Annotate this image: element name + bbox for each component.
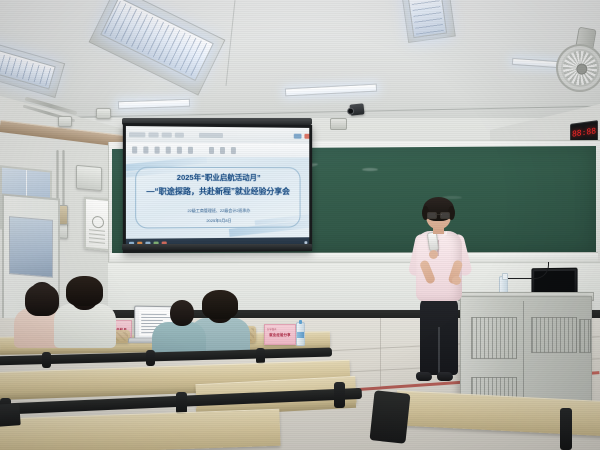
- audience-hair: [202, 290, 238, 319]
- desk-leg: [146, 350, 155, 366]
- desk-rail: [369, 390, 410, 443]
- screen-bottom-bar: [122, 244, 312, 250]
- audience-hair: [66, 276, 103, 306]
- electrical-box: [76, 165, 102, 191]
- audience-member: [54, 276, 116, 346]
- audience-head: [170, 300, 194, 326]
- wall-speaker: [330, 118, 347, 130]
- ceiling: [0, 0, 600, 128]
- slide-subtitle-date: 2025年5月8日: [206, 217, 231, 223]
- podium-cable: [508, 262, 549, 279]
- desk-leg: [256, 348, 265, 364]
- presenter-hand-left: [429, 250, 438, 259]
- desk-leg: [560, 408, 572, 450]
- water-bottle: [296, 322, 305, 346]
- ceiling-speaker: [58, 116, 72, 127]
- desk-leg: [334, 382, 345, 408]
- podium: [460, 296, 592, 406]
- ceiling-tube-light: [285, 84, 377, 97]
- audience-member: [152, 300, 206, 352]
- classroom-photo: 88:88: [0, 0, 600, 450]
- presenter-hand-right: [452, 276, 461, 285]
- projection-screen[interactable]: 2025年“职业启航活动月” —“职途探路，共赴新程”就业经验分享会 22级工商…: [123, 123, 312, 253]
- slide-title-line2: —“职途探路，共赴新程”就业经验分享会: [146, 185, 289, 196]
- desk-sign: 分享嘉宾 就业经验分享: [264, 324, 296, 345]
- projected-desktop: 2025年“职业启航活动月” —“职途探路，共赴新程”就业经验分享会 22级工商…: [126, 126, 309, 250]
- presenter: [404, 200, 474, 392]
- led-clock-digits: 88:88: [572, 127, 596, 138]
- slide-text-frame: 2025年“职业启航活动月” —“职途探路，共赴新程”就业经验分享会 22级工商…: [135, 167, 300, 229]
- glasses-icon: [427, 212, 450, 217]
- desk-sign-header: 分享嘉宾: [267, 327, 277, 331]
- presenter-pants: [420, 297, 458, 375]
- ceiling-fan-icon: [551, 39, 600, 97]
- audience-shirt: [54, 304, 116, 348]
- slide-subtitle-organizers: 22级工商管理班、22级会计2班承办: [187, 207, 250, 213]
- desk-sign-label: 就业经验分享: [269, 332, 291, 337]
- ceiling-tube-light: [118, 99, 190, 110]
- ceiling-light: [407, 0, 447, 38]
- slide-canvas: 2025年“职业启航活动月” —“职途探路，共赴新程”就业经验分享会 22级工商…: [126, 157, 309, 239]
- desk-leg: [176, 392, 187, 414]
- slide-title-line1: 2025年“职业启航活动月”: [177, 171, 261, 182]
- presenter-shoe-left: [416, 372, 432, 381]
- seat-back: [0, 403, 21, 427]
- security-camera-icon: [349, 103, 364, 115]
- desk-leg: [42, 352, 51, 368]
- wall-poster: [84, 197, 110, 251]
- ceiling-speaker: [96, 108, 111, 119]
- presenter-shoe-right: [437, 372, 453, 381]
